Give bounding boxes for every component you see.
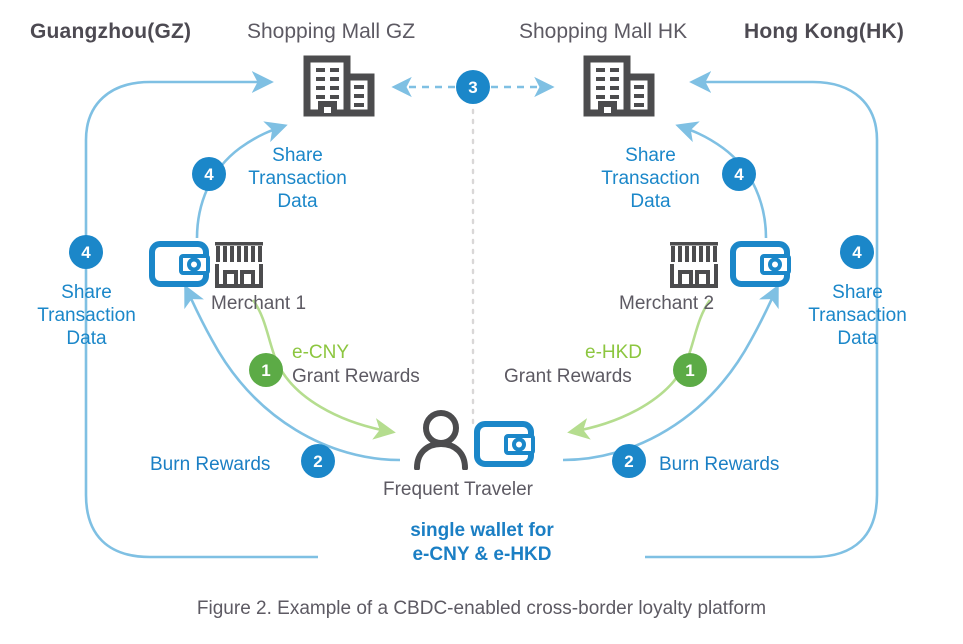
step-badge-4-outer-right[interactable]: 4 — [840, 235, 874, 269]
region-title-left: Guangzhou(GZ) — [30, 20, 191, 44]
share-line-3: Data — [583, 190, 718, 213]
step-badge-4-inner-left[interactable]: 4 — [192, 157, 226, 191]
traveler-wallet-note: single wallet for e-CNY & e-HKD — [332, 519, 632, 567]
step-badge-4-outer-left[interactable]: 4 — [69, 235, 103, 269]
merchant1-wallet[interactable] — [148, 240, 210, 293]
storefront-icon — [666, 238, 722, 290]
share-outer-left-label: Share Transaction Data — [19, 281, 154, 350]
step-badge-1-right[interactable]: 1 — [673, 353, 707, 387]
traveler-label: Frequent Traveler — [383, 479, 533, 501]
wallet-note-line-2: e-CNY & e-HKD — [332, 543, 632, 567]
wallet-icon — [729, 240, 791, 288]
region-title-right: Hong Kong(HK) — [744, 20, 904, 44]
grant-right-currency: e-HKD — [585, 342, 642, 364]
share-line-1: Share — [19, 281, 154, 304]
traveler-person[interactable] — [410, 408, 472, 475]
merchant2-label: Merchant 2 — [619, 293, 714, 315]
share-inner-left-label: Share Transaction Data — [230, 144, 365, 213]
share-line-1: Share — [583, 144, 718, 167]
office-building-icon — [303, 55, 375, 117]
step-badge-2-left[interactable]: 2 — [301, 444, 335, 478]
mall-hk-label: Shopping Mall HK — [519, 20, 687, 44]
office-building-icon — [583, 55, 655, 117]
wallet-icon — [473, 420, 535, 468]
traveler-wallet[interactable] — [473, 420, 535, 473]
burn-left-label: Burn Rewards — [150, 453, 270, 476]
wallet-note-line-1: single wallet for — [332, 519, 632, 543]
share-line-3: Data — [19, 327, 154, 350]
share-line-2: Transaction — [230, 167, 365, 190]
step-badge-3[interactable]: 3 — [456, 70, 490, 104]
share-outer-right-label: Share Transaction Data — [790, 281, 925, 350]
wallet-icon — [148, 240, 210, 288]
mall-hk-node[interactable] — [583, 55, 655, 122]
mall-gz-label: Shopping Mall GZ — [247, 20, 415, 44]
step-badge-2-right[interactable]: 2 — [612, 444, 646, 478]
merchant1-label: Merchant 1 — [211, 293, 306, 315]
burn-right-label: Burn Rewards — [659, 453, 779, 476]
share-line-1: Share — [230, 144, 365, 167]
merchant2-storefront[interactable] — [666, 238, 722, 295]
share-inner-right-label: Share Transaction Data — [583, 144, 718, 213]
figure-caption: Figure 2. Example of a CBDC-enabled cros… — [0, 598, 963, 620]
share-line-3: Data — [230, 190, 365, 213]
grant-right-action: Grant Rewards — [504, 366, 632, 388]
share-line-1: Share — [790, 281, 925, 304]
merchant2-wallet[interactable] — [729, 240, 791, 293]
person-icon — [410, 408, 472, 470]
merchant1-storefront[interactable] — [211, 238, 267, 295]
storefront-icon — [211, 238, 267, 290]
grant-left-currency: e-CNY — [292, 342, 349, 364]
figure-container: Guangzhou(GZ) Hong Kong(HK) Shopping Mal… — [0, 0, 963, 644]
mall-gz-node[interactable] — [303, 55, 375, 122]
share-line-2: Transaction — [19, 304, 154, 327]
share-line-2: Transaction — [583, 167, 718, 190]
step-badge-1-left[interactable]: 1 — [249, 353, 283, 387]
grant-left-action: Grant Rewards — [292, 366, 420, 388]
share-line-2: Transaction — [790, 304, 925, 327]
step-badge-4-inner-right[interactable]: 4 — [722, 157, 756, 191]
share-line-3: Data — [790, 327, 925, 350]
